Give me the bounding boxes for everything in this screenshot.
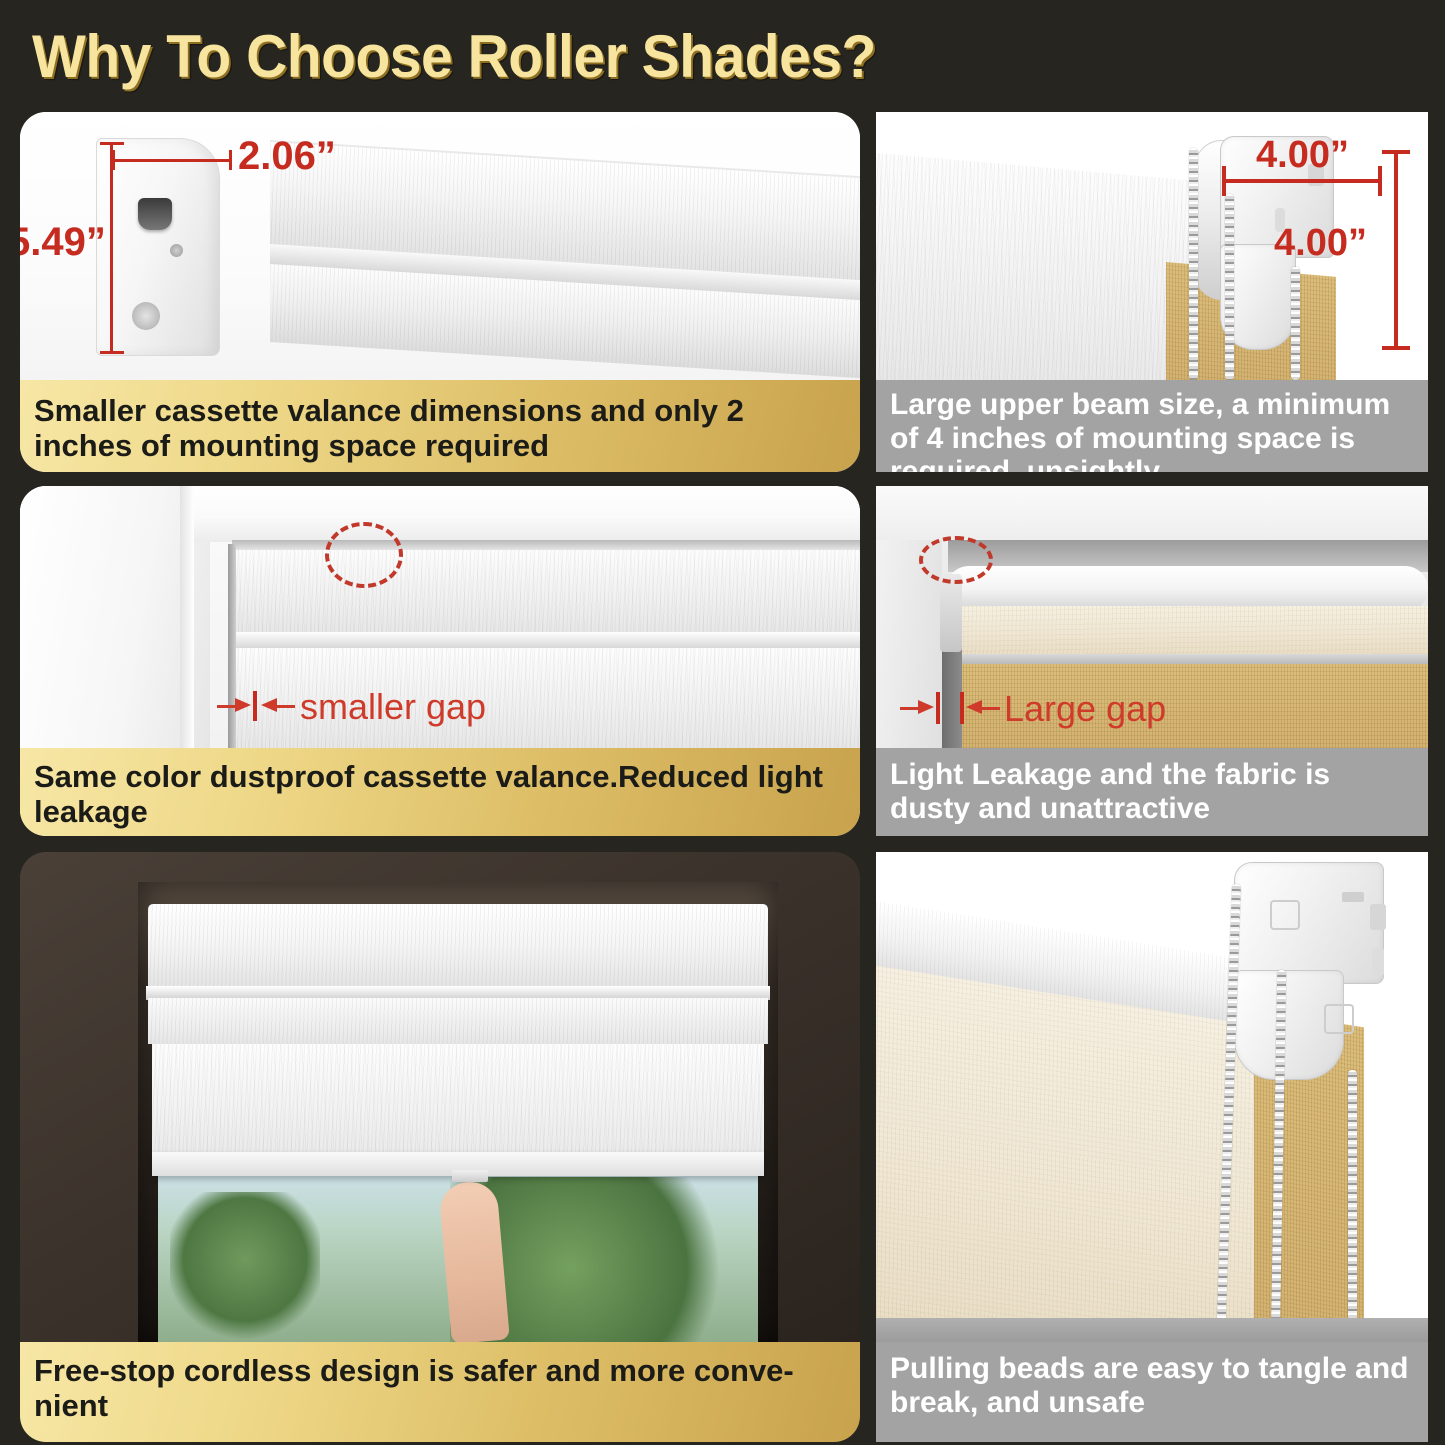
caption-text: Free-stop cordless design is safer and m… — [34, 1353, 794, 1423]
dim-beam-height-tick-bottom — [1382, 346, 1410, 350]
title-bar: Why To Choose Roller Shades? — [0, 0, 1445, 108]
gap-label-smaller: smaller gap — [300, 686, 486, 728]
dim-beam-width-tick-right — [1378, 166, 1382, 196]
caption-text: Large upper beam size, a minimum of 4 in… — [890, 388, 1390, 472]
valance-end-cap — [96, 138, 220, 356]
caption-text: Light Leakage and the fabric is dusty an… — [890, 758, 1330, 825]
cell-con-row3: Pulling beads are easy to tangle and bre… — [876, 852, 1428, 1442]
wall-background — [876, 486, 1428, 540]
roller-bracket-clip — [940, 574, 962, 652]
caption-pro-row2: Same color dustproof cassette valance.Re… — [20, 748, 860, 836]
caption-text: Same color dustproof cassette valance.Re… — [34, 759, 823, 829]
dim-width-line — [112, 159, 232, 162]
caption-con-row2: Light Leakage and the fabric is dusty an… — [876, 748, 1428, 836]
light-leakage-image: Large gap — [876, 486, 1428, 748]
roller-bracket — [1234, 862, 1384, 984]
window-cassette-image: smaller gap — [20, 486, 860, 748]
gap-label-large: Large gap — [1004, 688, 1166, 730]
shade-fabric-beige — [876, 964, 1266, 1342]
bead-chain-shade-image — [876, 852, 1428, 1342]
cassette-head — [148, 904, 768, 990]
bead-chain-left — [1189, 148, 1198, 380]
bead-chain-right — [1291, 267, 1300, 380]
floor-strip — [876, 1318, 1428, 1342]
fabric-band-cream — [956, 606, 1428, 658]
caption-text: Smaller cassette valance dimensions and … — [34, 393, 744, 463]
dim-height-tick-bottom — [100, 351, 124, 354]
dim-beam-height-tick-top — [1382, 150, 1410, 154]
bracket-slot-b — [1370, 904, 1386, 930]
cell-pro-row1: 2.06” 5.49” Smaller cassette valance dim… — [20, 112, 860, 472]
window-frame-edge — [180, 486, 194, 748]
dim-beam-width-line — [1222, 179, 1382, 183]
bead-chain-mid — [1225, 194, 1234, 380]
bracket-icon-lower — [1324, 1004, 1354, 1034]
cordless-shade-room-image — [20, 852, 860, 1342]
foliage-left — [170, 1192, 320, 1342]
cell-con-row1: 4.00” 4.00” Large upper beam size, a min… — [876, 112, 1428, 472]
dim-height-tick-top — [100, 142, 124, 145]
cell-pro-row2: smaller gap Same color dustproof cassett… — [20, 486, 860, 836]
light-gap-shadow — [942, 638, 962, 748]
end-cap-slot — [138, 198, 172, 230]
caption-con-row1: Large upper beam size, a minimum of 4 in… — [876, 380, 1428, 472]
comparison-grid: 2.06” 5.49” Smaller cassette valance dim… — [0, 108, 1445, 1445]
shade-left-edge — [228, 544, 236, 748]
dim-beam-height-label: 4.00” — [1274, 222, 1367, 265]
dim-width-label: 2.06” — [238, 134, 336, 179]
caption-pro-row3: Free-stop cordless design is safer and m… — [20, 1342, 860, 1442]
end-cap-screw-upper — [170, 244, 183, 257]
dim-height-label: 5.49” — [20, 220, 106, 265]
caption-con-row3: Pulling beads are easy to tangle and bre… — [876, 1342, 1428, 1442]
dim-beam-height-line — [1394, 150, 1398, 350]
window-frame-head — [194, 486, 860, 542]
caption-text: Pulling beads are easy to tangle and bre… — [890, 1352, 1408, 1419]
valance-mid-rail — [234, 632, 860, 648]
cell-con-row2: Large gap Light Leakage and the fabric i… — [876, 486, 1428, 836]
highlight-ellipse — [919, 536, 993, 584]
bracket-slot-c — [1372, 948, 1384, 976]
dim-width-tick-right — [229, 150, 232, 170]
end-cap-screw-lower — [132, 302, 160, 330]
bead-chain-3 — [1348, 1070, 1357, 1342]
highlight-ellipse — [325, 522, 403, 588]
dim-beam-width-tick-left — [1222, 166, 1226, 196]
caption-pro-row1: Smaller cassette valance dimensions and … — [20, 380, 860, 472]
large-beam-image: 4.00” 4.00” — [876, 112, 1428, 380]
page-title: Why To Choose Roller Shades? — [32, 22, 876, 91]
cassette-head-lower — [148, 998, 768, 1044]
cell-pro-row3: Free-stop cordless design is safer and m… — [20, 852, 860, 1442]
dim-height-line — [110, 142, 113, 354]
dim-beam-width-label: 4.00” — [1256, 134, 1349, 177]
pull-tab — [452, 1170, 488, 1182]
bracket-icon-upper — [1270, 900, 1300, 930]
bracket-slot-a — [1342, 892, 1364, 902]
cassette-valance-image: 2.06” 5.49” — [20, 112, 860, 380]
